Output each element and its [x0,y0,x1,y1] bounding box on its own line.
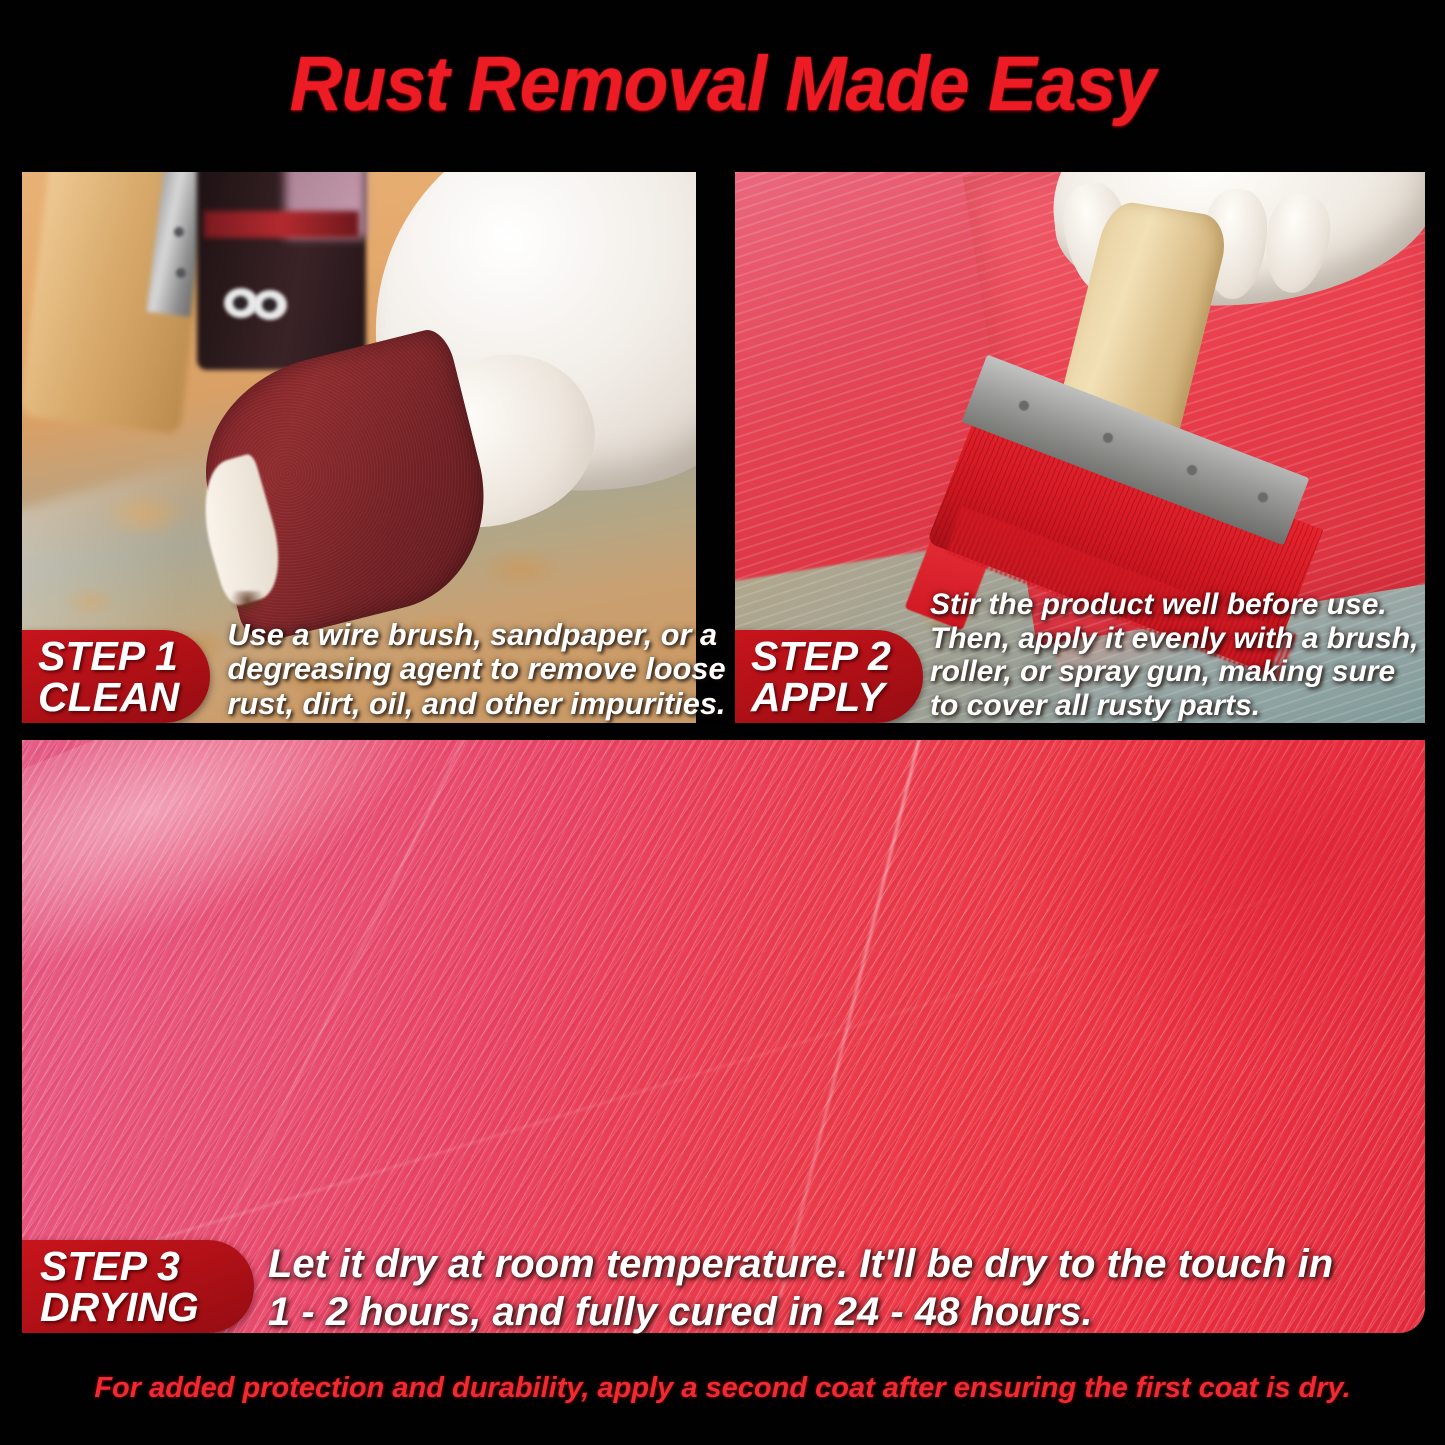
step-1-caption: Use a wire brush, sandpaper, or a degrea… [228,618,726,721]
step-2-badge: STEP 2 APPLY [735,630,923,723]
can-label-stripe [204,211,359,239]
step-2-caption-line-3: roller, or spray gun, making sure [930,655,1418,689]
step-1-caption-line-2: degreasing agent to remove loose [228,652,726,686]
step-2-badge-action: APPLY [751,677,923,718]
sanding-dust [224,591,271,610]
can-symbol-icon [253,290,287,320]
step-3-caption: Let it dry at room temperature. It'll be… [268,1240,1333,1336]
step-3-caption-line-2: 1 - 2 hours, and fully cured in 24 - 48 … [268,1288,1333,1336]
step-1-badge: STEP 1 CLEAN [22,630,210,723]
step-1-badge-action: CLEAN [38,677,210,718]
step-3-badge: STEP 3 DRYING [22,1240,254,1333]
step-3-badge-step: STEP 3 [40,1246,254,1287]
page-title: Rust Removal Made Easy [290,40,1155,129]
footer-note: For added protection and durability, app… [0,1372,1445,1405]
rust-removal-infographic: Rust Removal Made Easy STEP 1 CLEAN Use … [0,0,1445,1445]
title-bar: Rust Removal Made Easy [0,34,1445,134]
step-3-badge-action: DRYING [40,1287,254,1328]
step-3-caption-line-1: Let it dry at room temperature. It'll be… [268,1240,1333,1288]
step-2-caption-line-4: to cover all rusty parts. [930,689,1418,723]
step-2-caption: Stir the product well before use. Then, … [930,588,1418,722]
step-1-badge-step: STEP 1 [38,636,210,677]
step-2-caption-line-2: Then, apply it evenly with a brush, [930,622,1418,656]
step-1-caption-line-3: rust, dirt, oil, and other impurities. [228,687,726,721]
step-1-caption-line-1: Use a wire brush, sandpaper, or a [228,618,726,652]
step-2-caption-line-1: Stir the product well before use. [930,588,1418,622]
deep-red-area [1004,740,1425,1072]
step-2-badge-step: STEP 2 [751,636,923,677]
